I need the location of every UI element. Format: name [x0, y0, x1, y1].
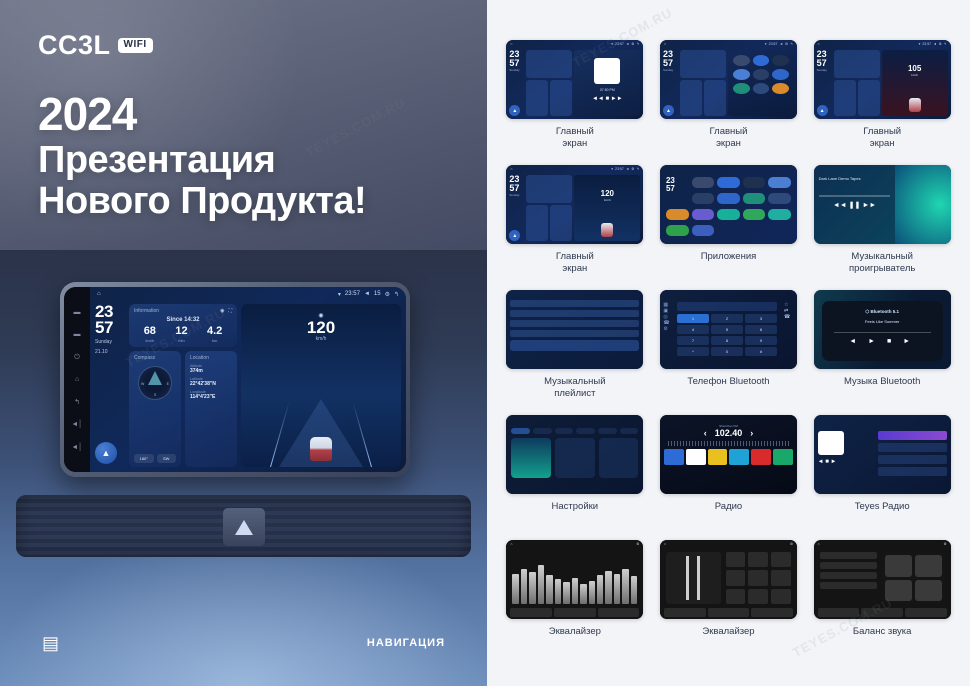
gallery-item[interactable]: ⌂▾23:57◄⚙↰2357Sunday▲07:50 PM◄◄ ■ ►►Глав… [503, 40, 647, 165]
thumbnail-eq-simple[interactable]: ⌂⚙ [660, 540, 797, 619]
gallery-item-caption: Настройки [552, 501, 599, 513]
gallery-item-caption: Главный экран [556, 126, 594, 150]
gallery-item-caption: Главный экран [556, 251, 594, 275]
hero-title-line2: Нового Продукта! [38, 181, 366, 222]
thumbnail-apps[interactable]: 2357 [660, 165, 797, 244]
navigation-button[interactable]: ▲ [95, 442, 117, 464]
gallery-item[interactable]: ⌂⚙Баланс звука [810, 540, 954, 665]
gallery-item-caption: Приложения [701, 251, 757, 263]
stat-duration: 12 min [175, 326, 187, 343]
compass-card[interactable]: Compass W E S 180° SW [129, 351, 181, 467]
location-title: Location [190, 355, 209, 361]
thumbnail-playlist[interactable] [506, 290, 643, 369]
gallery-item-caption: Teyes Радио [855, 501, 910, 513]
hero-footer: ▤ НАВИГАЦИЯ [0, 634, 487, 652]
gallery-item[interactable]: Dark Lane Demo Tapes◄◄ ❚❚ ►►Музыкальный … [810, 165, 954, 290]
gallery-item[interactable]: Музыкальный плейлист [503, 290, 647, 415]
latitude-row: Latitude 22°42'38"N [190, 377, 232, 387]
thumbnail-eq-bands[interactable]: ⌂⚙ [506, 540, 643, 619]
gallery-item[interactable]: Настройки [503, 415, 647, 540]
gallery-item-caption: Музыка Bluetooth [844, 376, 920, 388]
head-unit-screen[interactable]: ⌂ ▾ 23:57 ◄ 15 ⚙ ↰ 23 57 [90, 287, 406, 472]
gallery-item[interactable]: ⌂⚙Эквалайзер [503, 540, 647, 665]
gallery-panel: ⌂▾23:57◄⚙↰2357Sunday▲07:50 PM◄◄ ■ ►►Глав… [487, 0, 970, 686]
head-unit-bezel: ▬ ▬ ⏻ ⌂ ↰ ◄│ ◄│ ⌂ ▾ 23:57 ◄ 15 [60, 282, 410, 477]
car-dashboard: ▬ ▬ ⏻ ⌂ ↰ ◄│ ◄│ ⌂ ▾ 23:57 ◄ 15 [0, 250, 487, 686]
back-icon[interactable]: ↰ [394, 291, 399, 298]
stat-speed: 68 km/h [144, 326, 156, 343]
footer-label: НАВИГАЦИЯ [367, 637, 445, 649]
gallery-item[interactable]: ⌂▾23:57◄⚙↰2357Sunday▲Главный экран [657, 40, 801, 165]
gallery-item-caption: Эквалайзер [702, 626, 754, 638]
status-bar: ⌂ ▾ 23:57 ◄ 15 ⚙ ↰ [90, 287, 406, 301]
hero-panel: CC3L WIFI 2024 Презентация Нового Продук… [0, 0, 487, 686]
wifi-icon: ▾ [338, 291, 341, 298]
layers-icon: ▤ [42, 634, 59, 652]
status-volume: 15 [374, 291, 381, 297]
compass-heading: 180° [134, 454, 154, 463]
gallery-item[interactable]: ⌂▾23:57◄⚙↰2357Sunday▲105km/hГлавный экра… [810, 40, 954, 165]
compass-s: S [154, 393, 156, 397]
gallery-item[interactable]: ◄ ■ ►Teyes Радио [810, 415, 954, 540]
gallery-item[interactable]: Shenzhen FM‹ 102.40 ›Радио [657, 415, 801, 540]
hazard-triangle-icon [235, 520, 253, 535]
key-power-icon[interactable]: ⏻ [74, 354, 80, 361]
location-card[interactable]: Location Altitude 374m Latitude 22°42'38… [185, 351, 237, 467]
thumbnail-bt-phone[interactable]: ▦▣◎☎⚙123456789*0#☆⇄☎ [660, 290, 797, 369]
thumbnail-radio[interactable]: Shenzhen FM‹ 102.40 › [660, 415, 797, 494]
information-title: Information [134, 308, 159, 314]
thumbnail-music-player[interactable]: Dark Lane Demo Tapes◄◄ ❚❚ ►► [814, 165, 951, 244]
compass-e: E [167, 382, 169, 386]
hazard-button[interactable] [223, 508, 265, 546]
information-card[interactable]: Information ◉ ⛶ Since 14:32 68 [129, 304, 237, 347]
gallery-item[interactable]: ⬡ Bluetooth 5.1Feels Like Summer◄ ► ■ ►М… [810, 290, 954, 415]
compass-title: Compass [134, 355, 155, 361]
speed-value: 120 [241, 319, 401, 336]
gallery-item-caption: Музыкальный плейлист [544, 376, 605, 400]
gallery-item-caption: Баланс звука [853, 626, 912, 638]
gallery-item-caption: Телефон Bluetooth [687, 376, 769, 388]
info-expand-icon[interactable]: ⛶ [228, 308, 232, 314]
compass-w: W [141, 382, 144, 386]
key-menu-icon[interactable]: ▬ [74, 309, 81, 316]
status-time: 23:57 [345, 291, 360, 297]
thumbnail-home-drive2[interactable]: ⌂▾23:57◄⚙↰2357Sunday▲120km/h [506, 165, 643, 244]
thumbnail-settings[interactable] [506, 415, 643, 494]
gallery-item[interactable]: 2357Приложения [657, 165, 801, 290]
compass-direction: SW [157, 454, 177, 463]
wifi-badge: WIFI [118, 38, 153, 53]
clock-widget: 23 57 Sunday 21.10 ▲ [95, 304, 125, 467]
longitude-row: Longitude 114°4'23"E [190, 390, 232, 400]
clock-date: 21.10 [95, 349, 125, 355]
key-volume-down-icon[interactable]: ◄│ [71, 444, 82, 451]
gallery-item[interactable]: ▦▣◎☎⚙123456789*0#☆⇄☎Телефон Bluetooth [657, 290, 801, 415]
compass-dial: W E S [138, 366, 172, 400]
thumbnail-home-apps[interactable]: ⌂▾23:57◄⚙↰2357Sunday▲ [660, 40, 797, 119]
thumbnail-home-music[interactable]: ⌂▾23:57◄⚙↰2357Sunday▲07:50 PM◄◄ ■ ►► [506, 40, 643, 119]
gear-icon[interactable]: ⚙ [385, 291, 390, 298]
car-avatar [310, 437, 332, 461]
hardware-key-strip[interactable]: ▬ ▬ ⏻ ⌂ ↰ ◄│ ◄│ [64, 287, 90, 472]
gallery-item-caption: Главный экран [710, 126, 748, 150]
screenshot-grid: ⌂▾23:57◄⚙↰2357Sunday▲07:50 PM◄◄ ■ ►►Глав… [503, 40, 954, 665]
drive-view-widget[interactable]: ◉ 120 km/h [241, 304, 401, 467]
page-title: 2024 Презентация Нового Продукта! [38, 90, 366, 222]
info-refresh-icon[interactable]: ◉ [220, 308, 224, 314]
key-home-icon[interactable]: ⌂ [75, 376, 79, 383]
thumbnail-bt-music[interactable]: ⬡ Bluetooth 5.1Feels Like Summer◄ ► ■ ► [814, 290, 951, 369]
trip-since: Since 14:32 [134, 317, 232, 323]
key-mode-icon[interactable]: ▬ [74, 331, 81, 338]
clock-minutes: 57 [95, 320, 125, 336]
hero-title-line1: Презентация [38, 140, 366, 181]
thumbnail-teyes-radio[interactable]: ◄ ■ ► [814, 415, 951, 494]
altitude-row: Altitude 374m [190, 364, 232, 374]
logo-text: CC3L [38, 30, 111, 61]
clock-day: Sunday [95, 339, 125, 345]
hero-year: 2024 [38, 90, 366, 140]
gallery-item-caption: Музыкальный проигрыватель [849, 251, 915, 275]
stat-distance: 4.2 km [207, 326, 222, 343]
gallery-item[interactable]: ⌂⚙Эквалайзер [657, 540, 801, 665]
key-volume-up-icon[interactable]: ◄│ [71, 421, 82, 428]
gallery-item-caption: Эквалайзер [549, 626, 601, 638]
volume-icon: ◄ [364, 291, 370, 297]
home-icon[interactable]: ⌂ [97, 291, 101, 297]
speed-unit: km/h [241, 336, 401, 342]
thumbnail-balance[interactable]: ⌂⚙ [814, 540, 951, 619]
thumbnail-home-drive[interactable]: ⌂▾23:57◄⚙↰2357Sunday▲105km/h [814, 40, 951, 119]
gallery-item-caption: Радио [715, 501, 742, 513]
gallery-item-caption: Главный экран [863, 126, 901, 150]
gallery-item[interactable]: ⌂▾23:57◄⚙↰2357Sunday▲120km/hГлавный экра… [503, 165, 647, 290]
key-back-icon[interactable]: ↰ [74, 399, 80, 406]
product-logo: CC3L WIFI [38, 30, 153, 61]
